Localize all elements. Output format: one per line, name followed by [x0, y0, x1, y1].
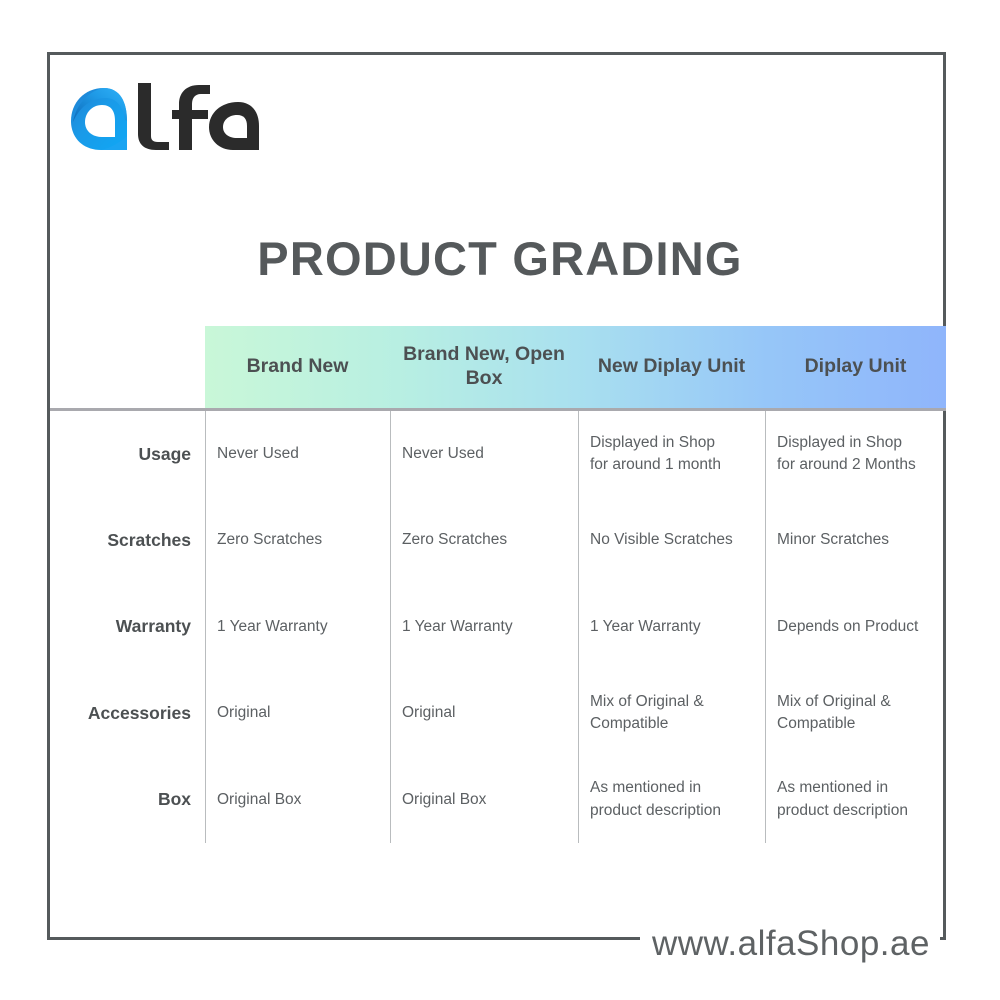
cell-usage-brand-new: Never Used	[205, 411, 390, 497]
table-row: Usage Never Used Never Used Displayed in…	[50, 411, 946, 497]
row-label-accessories: Accessories	[50, 670, 205, 756]
table-header-new-diplay-unit: New Diplay Unit	[578, 326, 765, 408]
table-row: Accessories Original Original Mix of Ori…	[50, 670, 946, 756]
cell-box-brand-new: Original Box	[205, 757, 390, 843]
product-grading-table: Brand New Brand New, Open Box New Diplay…	[50, 326, 946, 846]
cell-usage-brand-new-open-box: Never Used	[390, 411, 578, 497]
row-label-scratches: Scratches	[50, 497, 205, 583]
cell-box-new-diplay-unit: As mentioned in product description	[578, 757, 765, 843]
cell-scratches-brand-new-open-box: Zero Scratches	[390, 497, 578, 583]
cell-usage-diplay-unit: Displayed in Shop for around 2 Months	[765, 411, 946, 497]
cell-warranty-brand-new-open-box: 1 Year Warranty	[390, 584, 578, 670]
cell-warranty-new-diplay-unit: 1 Year Warranty	[578, 584, 765, 670]
cell-warranty-diplay-unit: Depends on Product	[765, 584, 946, 670]
table-header-diplay-unit: Diplay Unit	[765, 326, 946, 408]
page-title: PRODUCT GRADING	[0, 231, 1000, 286]
row-label-usage: Usage	[50, 411, 205, 497]
cell-accessories-brand-new-open-box: Original	[390, 670, 578, 756]
cell-accessories-brand-new: Original	[205, 670, 390, 756]
table-header-brand-new-open-box: Brand New, Open Box	[390, 326, 578, 408]
cell-scratches-new-diplay-unit: No Visible Scratches	[578, 497, 765, 583]
footer-website-url: www.alfaShop.ae	[640, 922, 940, 966]
cell-accessories-diplay-unit: Mix of Original & Compatible	[765, 670, 946, 756]
alfa-logo	[68, 80, 268, 158]
cell-warranty-brand-new: 1 Year Warranty	[205, 584, 390, 670]
table-row: Scratches Zero Scratches Zero Scratches …	[50, 497, 946, 583]
table-row: Warranty 1 Year Warranty 1 Year Warranty…	[50, 584, 946, 670]
cell-usage-new-diplay-unit: Displayed in Shop for around 1 month	[578, 411, 765, 497]
table-header-brand-new: Brand New	[205, 326, 390, 408]
table-body: Usage Never Used Never Used Displayed in…	[50, 411, 946, 843]
cell-accessories-new-diplay-unit: Mix of Original & Compatible	[578, 670, 765, 756]
cell-scratches-brand-new: Zero Scratches	[205, 497, 390, 583]
row-label-warranty: Warranty	[50, 584, 205, 670]
table-row: Box Original Box Original Box As mention…	[50, 757, 946, 843]
row-label-box: Box	[50, 757, 205, 843]
cell-box-diplay-unit: As mentioned in product description	[765, 757, 946, 843]
cell-scratches-diplay-unit: Minor Scratches	[765, 497, 946, 583]
table-header-row: Brand New Brand New, Open Box New Diplay…	[205, 326, 946, 408]
cell-box-brand-new-open-box: Original Box	[390, 757, 578, 843]
